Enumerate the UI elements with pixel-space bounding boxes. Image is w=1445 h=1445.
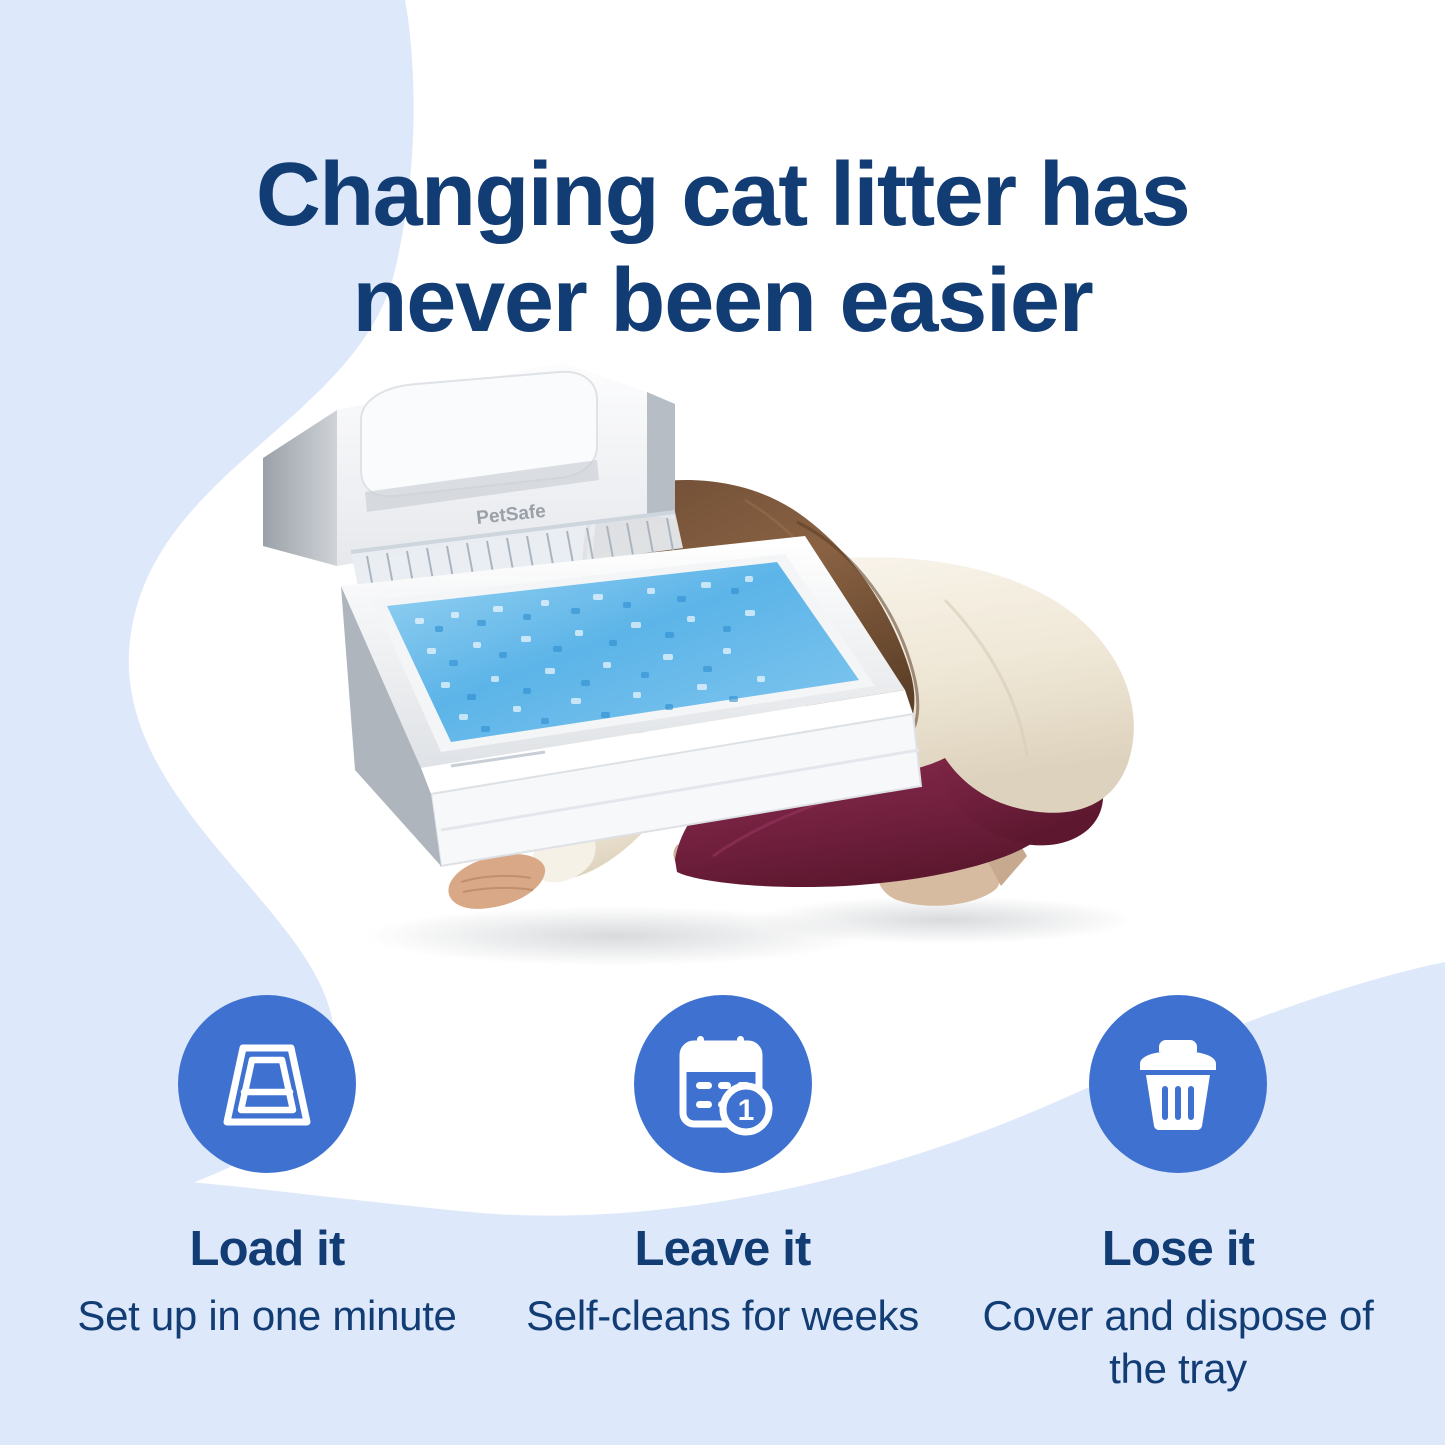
- feature-load-it[interactable]: Load it Set up in one minute: [52, 995, 482, 1343]
- feature-lose-it[interactable]: Lose it Cover and dispose of the tray: [963, 995, 1393, 1395]
- feature-2-title: Leave it: [634, 1225, 810, 1274]
- litter-tray-icon: [213, 1030, 321, 1138]
- page-headline: Changing cat litter has never been easie…: [0, 142, 1445, 354]
- feature-2-icon-circle: 1: [634, 995, 812, 1173]
- feature-3-desc: Cover and dispose of the tray: [978, 1290, 1378, 1395]
- feature-1-icon-circle: [178, 995, 356, 1173]
- product-photo-illustration: PetSafe: [245, 300, 1195, 1000]
- feature-3-icon-circle: [1089, 995, 1267, 1173]
- calendar-badge-number: 1: [737, 1094, 754, 1127]
- feature-1-title: Load it: [190, 1225, 345, 1274]
- headline-line-2: never been easier: [0, 248, 1445, 354]
- feature-leave-it[interactable]: 1 Leave it Self-cleans for weeks: [508, 995, 938, 1343]
- product-photo: PetSafe: [245, 300, 1195, 1000]
- hood-right-edge: [647, 392, 675, 520]
- feature-2-desc: Self-cleans for weeks: [526, 1290, 919, 1343]
- feature-3-title: Lose it: [1102, 1225, 1254, 1274]
- calendar-one-icon: 1: [667, 1028, 779, 1140]
- feature-row: Load it Set up in one minute: [0, 995, 1445, 1435]
- headline-line-1: Changing cat litter has: [0, 142, 1445, 248]
- hood-left-panel: [263, 410, 337, 566]
- trash-can-icon: [1124, 1030, 1232, 1138]
- infographic-canvas: Changing cat litter has never been easie…: [0, 0, 1445, 1445]
- feature-1-desc: Set up in one minute: [77, 1290, 456, 1343]
